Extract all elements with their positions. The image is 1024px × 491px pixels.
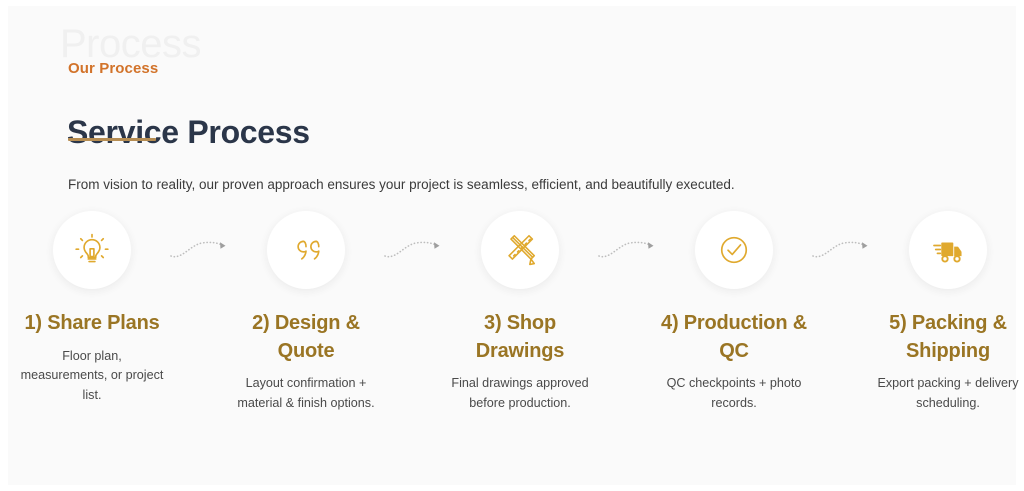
process-step-2: 2) Design & Quote Layout confirmation + … <box>230 211 382 413</box>
delivery-truck-icon <box>929 231 967 269</box>
step-description: Export packing + delivery scheduling. <box>872 374 1024 413</box>
step-icon-bubble <box>481 211 559 289</box>
process-section: Process Our Process Service Process From… <box>0 0 1024 491</box>
step-title: 5) Packing & Shipping <box>872 310 1024 365</box>
step-title: 2) Design & Quote <box>230 310 382 365</box>
dotted-curve-arrow-icon <box>810 211 872 289</box>
step-title: 1) Share Plans <box>22 310 161 338</box>
lightbulb-icon <box>73 231 111 269</box>
title-divider <box>68 138 156 141</box>
dotted-curve-arrow-icon <box>168 211 230 289</box>
step-description: Final drawings approved before productio… <box>444 374 596 413</box>
step-title: 3) Shop Drawings <box>444 310 596 365</box>
dotted-curve-arrow-icon <box>596 211 658 289</box>
process-step-4: 4) Production & QC QC checkpoints + phot… <box>658 211 810 413</box>
step-description: Layout confirmation + material & finish … <box>230 374 382 413</box>
step-description: Floor plan, measurements, or project lis… <box>16 347 168 406</box>
step-description: QC checkpoints + photo records. <box>658 374 810 413</box>
process-step-5: 5) Packing & Shipping Export packing + d… <box>872 211 1024 413</box>
dotted-curve-arrow-icon <box>382 211 444 289</box>
process-panel: Process Our Process Service Process From… <box>8 6 1016 485</box>
process-step-1: 1) Share Plans Floor plan, measurements,… <box>16 211 168 405</box>
section-subtitle: From vision to reality, our proven appro… <box>68 176 735 195</box>
pencil-ruler-icon <box>501 231 539 269</box>
page-title: Service Process <box>67 113 310 151</box>
process-step-3: 3) Shop Drawings Final drawings approved… <box>444 211 596 413</box>
section-eyebrow: Our Process <box>68 61 158 76</box>
check-circle-icon <box>715 231 753 269</box>
step-icon-bubble <box>53 211 131 289</box>
step-icon-bubble <box>267 211 345 289</box>
watermark-text: Process <box>60 24 201 64</box>
step-icon-bubble <box>909 211 987 289</box>
quote-marks-icon <box>288 232 324 268</box>
step-icon-bubble <box>695 211 773 289</box>
step-title: 4) Production & QC <box>658 310 810 365</box>
process-steps-row: 1) Share Plans Floor plan, measurements,… <box>16 211 1024 461</box>
